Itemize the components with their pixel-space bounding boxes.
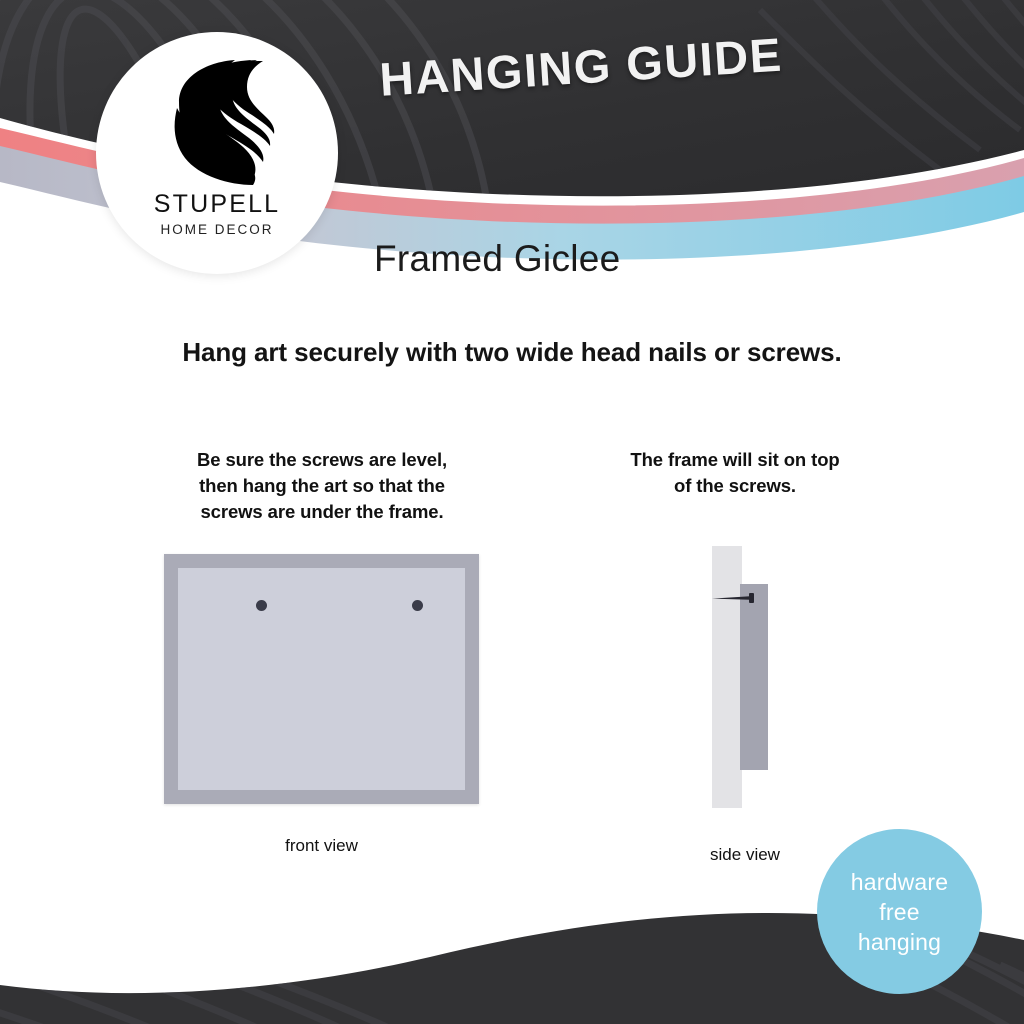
page-title: HANGING GUIDE [378,27,784,107]
front-view-caption-line-3: screws are under the frame. [146,499,498,525]
hanging-guide-page: STUPELL HOME DECOR HANGING GUIDE Framed … [0,0,1024,1024]
screw-dot-right-icon [412,600,423,611]
main-instruction-text: Hang art securely with two wide head nai… [0,337,1024,368]
brand-name: STUPELL [154,190,281,219]
brand-logo-badge: STUPELL HOME DECOR [96,32,338,274]
frame-strip [740,584,768,770]
badge-line-1: hardware [851,867,949,897]
brand-tagline: HOME DECOR [160,222,273,237]
product-type-label: Framed Giclee [374,238,621,280]
picture-frame-front-icon [164,554,479,804]
front-view-caption-line-2: then hang the art so that the [146,473,498,499]
side-view-label: side view [660,845,830,865]
stupell-swoosh-logo-icon [159,58,275,186]
wall-strip [712,546,742,808]
side-view-caption-line-1: The frame will sit on top [580,447,890,473]
side-view-caption-block: The frame will sit on top of the screws. [580,447,890,499]
front-view-caption-line-1: Be sure the screws are level, [146,447,498,473]
hardware-free-hanging-badge: hardware free hanging [817,829,982,994]
picture-frame-side-icon [700,546,792,808]
nail-icon [710,592,760,604]
badge-line-3: hanging [858,927,941,957]
front-view-caption-block: Be sure the screws are level, then hang … [146,447,498,525]
screw-dot-left-icon [256,600,267,611]
badge-line-2: free [879,897,919,927]
front-view-label: front view [164,836,479,856]
side-view-caption-line-2: of the screws. [580,473,890,499]
frame-inner-art-area [178,568,465,790]
